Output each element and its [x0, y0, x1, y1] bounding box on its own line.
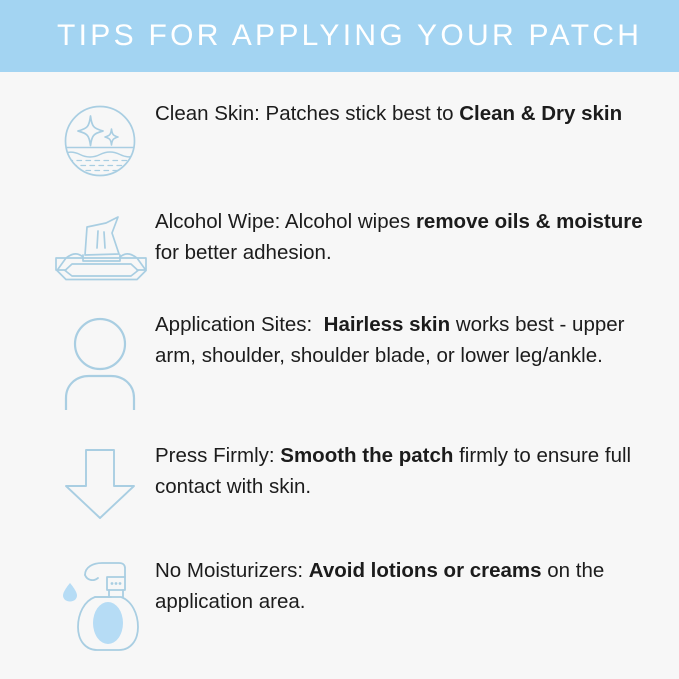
tip-body: Patches stick best to	[266, 102, 460, 125]
alcohol-wipe-pack-icon	[45, 206, 155, 281]
tip-emphasis: Smooth the patch	[280, 444, 453, 467]
tip-lead: Alcohol Wipe:	[155, 210, 285, 233]
tip-lead: Press Firmly:	[155, 444, 280, 467]
tip-emphasis: remove oils & moisture	[416, 210, 643, 233]
tip-text: Application Sites: Hairless skin works b…	[155, 309, 679, 371]
tip-row: No Moisturizers: Avoid lotions or creams…	[0, 555, 679, 657]
header-banner: TIPS FOR APPLYING YOUR PATCH	[0, 0, 679, 72]
tip-text: Clean Skin: Patches stick best to Clean …	[155, 98, 679, 129]
lotion-bottle-icon	[45, 555, 155, 657]
tip-emphasis: Clean & Dry skin	[459, 102, 622, 125]
tips-list: Clean Skin: Patches stick best to Clean …	[0, 72, 679, 657]
clean-skin-sparkle-icon	[45, 98, 155, 180]
tip-row: Application Sites: Hairless skin works b…	[0, 309, 679, 410]
tip-row: Clean Skin: Patches stick best to Clean …	[0, 98, 679, 180]
person-body-icon	[45, 309, 155, 410]
tip-body: Alcohol wipes	[285, 210, 416, 233]
page-title: TIPS FOR APPLYING YOUR PATCH	[57, 21, 642, 51]
tip-emphasis: Avoid lotions or creams	[309, 559, 542, 582]
tip-lead: No Moisturizers:	[155, 559, 309, 582]
tip-row: Press Firmly: Smooth the patch firmly to…	[0, 440, 679, 522]
tip-text: Alcohol Wipe: Alcohol wipes remove oils …	[155, 206, 679, 268]
tip-lead: Clean Skin:	[155, 102, 266, 125]
tip-lead: Application Sites:	[155, 313, 324, 336]
down-arrow-icon	[45, 440, 155, 522]
tip-row: Alcohol Wipe: Alcohol wipes remove oils …	[0, 206, 679, 281]
tip-emphasis: Hairless skin	[324, 313, 451, 336]
tips-infographic: TIPS FOR APPLYING YOUR PATCH	[0, 0, 679, 679]
tip-text: Press Firmly: Smooth the patch firmly to…	[155, 440, 679, 502]
tip-text: No Moisturizers: Avoid lotions or creams…	[155, 555, 679, 617]
